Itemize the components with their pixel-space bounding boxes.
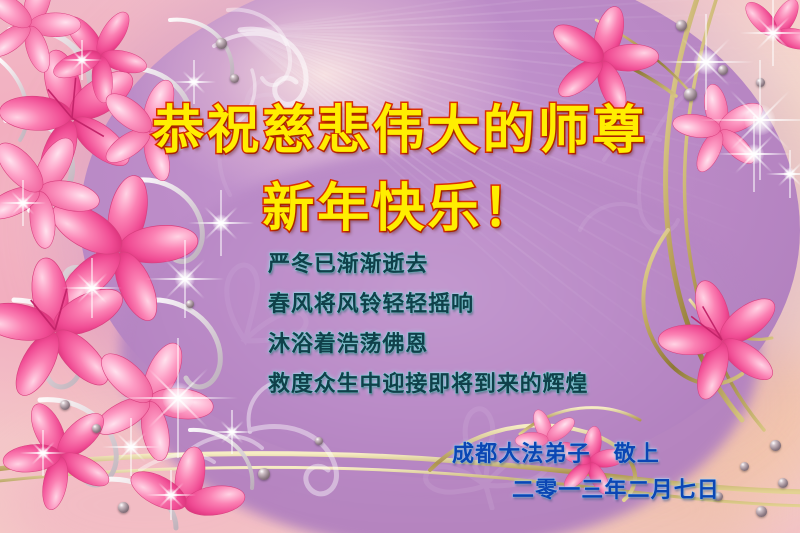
signature-date: 二零一三年二月七日: [512, 472, 720, 504]
pearl-bead: [92, 424, 101, 433]
pearl-bead: [756, 78, 765, 87]
pearl-bead: [778, 478, 788, 488]
pearl-bead: [216, 38, 227, 49]
verse-line-2: 春风将风铃轻轻摇响: [268, 286, 474, 318]
pearl-bead: [315, 437, 323, 445]
verse-line-4: 救度众生中迎接即将到来的辉煌: [268, 366, 588, 398]
pearl-bead: [756, 506, 767, 517]
pearl-bead: [230, 74, 239, 83]
pearl-bead: [186, 300, 194, 308]
pearl-bead: [60, 400, 70, 410]
pearl-bead: [676, 20, 687, 31]
verse-line-3: 沐浴着浩荡佛恩: [268, 326, 428, 358]
signature-sender: 成都大法弟子 敬上: [452, 436, 660, 468]
pearl-bead: [770, 440, 781, 451]
pearl-bead: [740, 462, 749, 471]
verse-line-1: 严冬已渐渐逝去: [268, 246, 428, 278]
pearl-bead: [118, 502, 129, 513]
pearl-bead: [258, 468, 270, 480]
pearl-bead: [718, 65, 728, 75]
headline-line-2: 新年快乐！: [0, 166, 800, 241]
headline-line-1: 恭祝慈悲伟大的师尊: [0, 88, 800, 163]
greeting-card: 恭祝慈悲伟大的师尊 新年快乐！ 严冬已渐渐逝去 春风将风铃轻轻摇响 沐浴着浩荡佛…: [0, 0, 800, 533]
